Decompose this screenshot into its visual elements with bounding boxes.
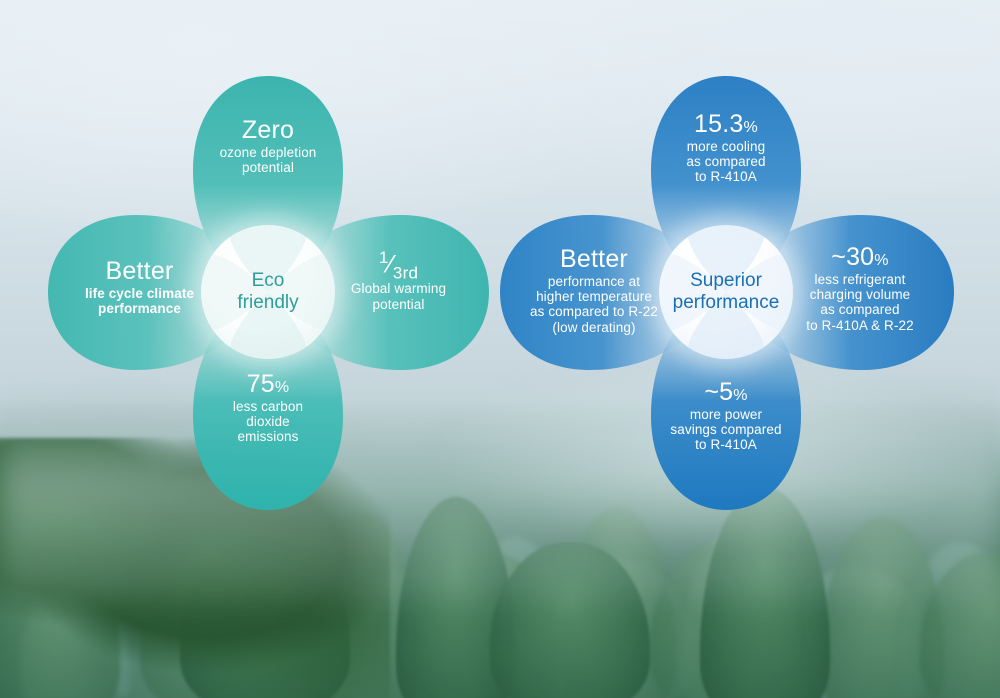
eco-friendly-flower-diagram: Zero ozone depletion potential Better li… <box>58 82 478 502</box>
hub-line-2: performance <box>673 292 780 313</box>
petal-headline: 15.3% <box>651 110 801 139</box>
fraction-numerator: 1 <box>379 248 389 267</box>
petal-line-2: as compared <box>651 154 801 169</box>
petal-perf-top-label: 15.3% more cooling as compared to R-410A <box>651 110 801 185</box>
petal-unit: % <box>874 252 888 269</box>
petal-line-1: less carbon <box>193 399 343 414</box>
petal-line-1: more cooling <box>651 139 801 154</box>
petal-headline: Better <box>500 245 688 274</box>
superior-performance-flower-diagram: 15.3% more cooling as compared to R-410A… <box>516 82 936 502</box>
petal-line-1: ozone depletion <box>193 145 343 160</box>
hub-line-1: Superior <box>690 270 762 291</box>
fraction-one-third: 1⁄3rd <box>379 249 418 281</box>
petal-perf-bottom-label: ~5% more power savings compared to R-410… <box>637 378 815 453</box>
petal-headline: 1⁄3rd <box>312 249 485 281</box>
hub-line-2: friendly <box>237 292 298 313</box>
petal-unit: % <box>733 387 747 404</box>
petal-line-1: more power <box>637 407 815 422</box>
petal-line-3: to R-410A <box>637 437 815 452</box>
petal-eco-bottom-label: 75% less carbon dioxide emissions <box>193 370 343 445</box>
petal-eco-top-label: Zero ozone depletion potential <box>193 116 343 175</box>
petal-line-2: potential <box>193 160 343 175</box>
petal-line-3: to R-410A <box>651 169 801 184</box>
petal-line-3: emissions <box>193 429 343 444</box>
petal-unit: % <box>744 119 758 136</box>
petal-unit: % <box>275 379 289 396</box>
petal-headline: ~5% <box>637 378 815 407</box>
petal-headline: Zero <box>193 116 343 145</box>
hub-superior-performance[interactable]: Superior performance <box>659 225 793 359</box>
hub-line-1: Eco <box>252 270 285 291</box>
petal-headline: 75% <box>193 370 343 399</box>
hub-eco-text: Eco friendly <box>237 270 298 315</box>
petal-line-2: savings compared <box>637 422 815 437</box>
hub-eco-friendly[interactable]: Eco friendly <box>201 225 335 359</box>
petal-line-2: dioxide <box>193 414 343 429</box>
petal-headline: ~30% <box>768 243 952 272</box>
hub-perf-text: Superior performance <box>673 270 780 315</box>
fraction-denominator: 3rd <box>393 263 418 282</box>
